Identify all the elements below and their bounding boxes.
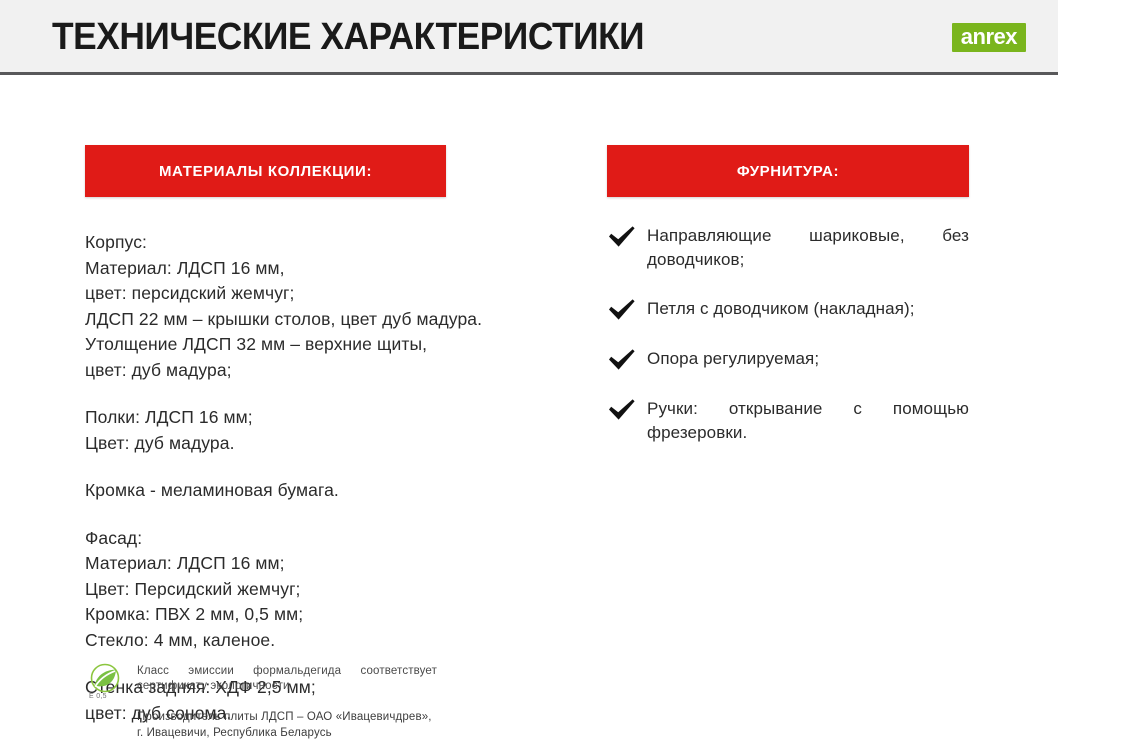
materials-spec-list: Корпус: Материал: ЛДСП 16 мм, цвет: перс…: [85, 230, 565, 726]
list-item: Петля с доводчиком (накладная);: [607, 297, 969, 322]
spec-line: Цвет: дуб мадура.: [85, 431, 565, 457]
list-item-line: доводчиков;: [647, 248, 969, 272]
emission-note: Класс эмиссии формальдегида соответствуе…: [137, 664, 437, 694]
checkmark-icon: [607, 224, 647, 249]
list-item-line: Опора регулируемая;: [647, 347, 969, 371]
spec-line: Стекло: 4 мм, каленое.: [85, 628, 565, 654]
checkmark-icon: [607, 347, 647, 372]
emission-note-line: сертификату экологичности: [137, 679, 437, 694]
spec-line: Материал: ЛДСП 16 мм;: [85, 551, 565, 577]
spec-line: Корпус:: [85, 230, 565, 256]
emission-note-line: Класс эмиссии формальдегида соответствуе…: [137, 664, 437, 679]
spec-line: цвет: дуб мадура;: [85, 358, 565, 384]
list-item-text: Петля с доводчиком (накладная);: [647, 297, 969, 321]
spec-line: Материал: ЛДСП 16 мм,: [85, 256, 565, 282]
spec-group-kromka: Кромка - меламиновая бумага.: [85, 478, 565, 504]
hardware-check-list: Направляющие шариковые, без доводчиков; …: [607, 224, 969, 445]
hardware-column: ФУРНИТУРА: Направляющие шариковые, без д…: [607, 145, 969, 445]
list-item-line: Направляющие шариковые, без: [647, 224, 969, 248]
hardware-heading-text: ФУРНИТУРА:: [737, 163, 839, 180]
manufacturer-note-line: Производитель плиты ЛДСП – ОАО «Ивацевич…: [137, 710, 555, 726]
materials-heading-bar: МАТЕРИАЛЫ КОЛЛЕКЦИИ:: [85, 145, 446, 197]
spec-line: Кромка: ПВХ 2 мм, 0,5 мм;: [85, 602, 565, 628]
footer-eco-row: E 0,5 Класс эмиссии формальдегида соотве…: [85, 662, 555, 741]
brand-logo: anrex: [952, 23, 1026, 52]
spec-line: Фасад:: [85, 526, 565, 552]
brand-logo-text: anrex: [961, 24, 1017, 49]
checkmark-icon: [607, 297, 647, 322]
list-item-line: Петля с доводчиком (накладная);: [647, 297, 969, 321]
spec-line: Полки: ЛДСП 16 мм;: [85, 405, 565, 431]
list-item-line: фрезеровки.: [647, 421, 969, 445]
spec-group-polki: Полки: ЛДСП 16 мм; Цвет: дуб мадура.: [85, 405, 565, 456]
footer: E 0,5 Класс эмиссии формальдегида соотве…: [85, 662, 555, 741]
page-title: ТЕХНИЧЕСКИЕ ХАРАКТЕРИСТИКИ: [52, 16, 644, 59]
checkmark-icon: [607, 397, 647, 422]
list-item: Опора регулируемая;: [607, 347, 969, 372]
spec-line: Кромка - меламиновая бумага.: [85, 478, 565, 504]
spec-line: Цвет: Персидский жемчуг;: [85, 577, 565, 603]
spec-group-fasad: Фасад: Материал: ЛДСП 16 мм; Цвет: Перси…: [85, 526, 565, 654]
spec-line: Утолщение ЛДСП 32 мм – верхние щиты,: [85, 332, 565, 358]
spec-group-korpus: Корпус: Материал: ЛДСП 16 мм, цвет: перс…: [85, 230, 565, 383]
spec-line: ЛДСП 22 мм – крышки столов, цвет дуб мад…: [85, 307, 565, 333]
materials-heading-text: МАТЕРИАЛЫ КОЛЛЕКЦИИ:: [159, 163, 372, 180]
page-header-band: ТЕХНИЧЕСКИЕ ХАРАКТЕРИСТИКИ anrex: [0, 0, 1058, 75]
spec-line: цвет: персидский жемчуг;: [85, 281, 565, 307]
eco-leaf-icon: E 0,5: [85, 662, 137, 695]
hardware-heading-bar: ФУРНИТУРА:: [607, 145, 969, 197]
manufacturer-note: Производитель плиты ЛДСП – ОАО «Ивацевич…: [137, 710, 555, 741]
materials-column: МАТЕРИАЛЫ КОЛЛЕКЦИИ: Корпус: Материал: Л…: [85, 145, 565, 726]
list-item-line: Ручки: открывание с помощью: [647, 397, 969, 421]
manufacturer-note-line: г. Ивацевичи, Республика Беларусь: [137, 726, 555, 742]
eco-class-label: E 0,5: [89, 693, 107, 700]
list-item-text: Опора регулируемая;: [647, 347, 969, 371]
footer-text-block: Класс эмиссии формальдегида соответствуе…: [137, 662, 555, 741]
list-item-text: Ручки: открывание с помощью фрезеровки.: [647, 397, 969, 445]
list-item-text: Направляющие шариковые, без доводчиков;: [647, 224, 969, 272]
list-item: Направляющие шариковые, без доводчиков;: [607, 224, 969, 272]
list-item: Ручки: открывание с помощью фрезеровки.: [607, 397, 969, 445]
